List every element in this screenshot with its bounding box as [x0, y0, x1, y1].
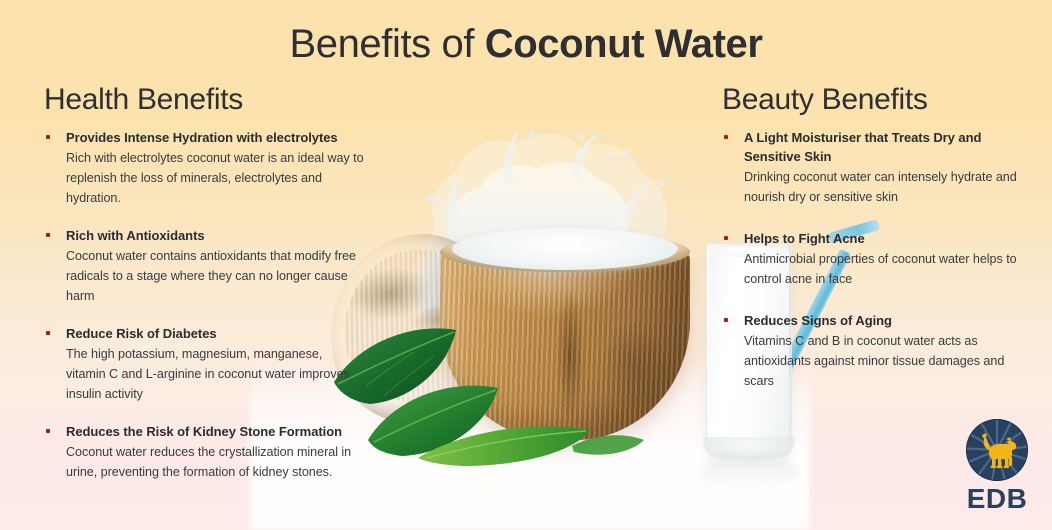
logo-wordmark: EDB — [961, 484, 1033, 514]
coconut-water-pool — [452, 228, 678, 270]
infographic-canvas: Benefits of Coconut Water Health Benefit… — [0, 0, 1052, 530]
benefit-description: Coconut water contains antioxidants that… — [66, 246, 364, 306]
list-item: Reduces Signs of Aging Vitamins C and B … — [722, 311, 1022, 391]
list-item: Rich with Antioxidants Coconut water con… — [44, 226, 364, 306]
benefit-title: Helps to Fight Acne — [744, 229, 1022, 248]
bullet-icon — [724, 135, 728, 139]
benefit-title: Reduces Signs of Aging — [744, 311, 1022, 330]
beauty-benefits-list: A Light Moisturiser that Treats Dry and … — [722, 128, 1022, 413]
water-splash-icon — [395, 125, 695, 315]
benefit-description: Rich with electrolytes coconut water is … — [66, 148, 364, 208]
list-item: Reduces the Risk of Kidney Stone Formati… — [44, 422, 364, 482]
list-item: A Light Moisturiser that Treats Dry and … — [722, 128, 1022, 207]
glass-reflection — [700, 456, 800, 490]
bullet-icon — [46, 233, 50, 237]
benefit-title: Reduce Risk of Diabetes — [66, 324, 364, 343]
benefit-description: Coconut water reduces the crystallizatio… — [66, 442, 364, 482]
benefit-title: A Light Moisturiser that Treats Dry and … — [744, 128, 1022, 166]
benefit-description: Antimicrobial properties of coconut wate… — [744, 249, 1022, 289]
green-leaves-icon — [322, 300, 652, 470]
benefit-title: Reduces the Risk of Kidney Stone Formati… — [66, 422, 364, 441]
benefit-title: Rich with Antioxidants — [66, 226, 364, 245]
bullet-icon — [46, 135, 50, 139]
list-item: Helps to Fight Acne Antimicrobial proper… — [722, 229, 1022, 289]
list-item: Reduce Risk of Diabetes The high potassi… — [44, 324, 364, 404]
bullet-icon — [724, 318, 728, 322]
coconut-shell-bowl-icon — [440, 240, 690, 440]
edb-logo[interactable]: EDB — [961, 418, 1033, 516]
benefit-title: Provides Intense Hydration with electrol… — [66, 128, 364, 147]
list-item: Provides Intense Hydration with electrol… — [44, 128, 364, 208]
benefit-description: The high potassium, magnesium, manganese… — [66, 344, 364, 404]
section-heading-beauty: Beauty Benefits — [722, 82, 928, 118]
page-title: Benefits of Coconut Water — [0, 20, 1052, 68]
coconut-shell-rim — [440, 232, 690, 272]
benefit-description: Vitamins C and B in coconut water acts a… — [744, 331, 1022, 391]
page-title-bold: Coconut Water — [485, 22, 763, 66]
page-title-light: Benefits of — [289, 22, 484, 66]
glass-base — [703, 437, 795, 459]
bullet-icon — [46, 429, 50, 433]
bullet-icon — [724, 236, 728, 240]
bullet-icon — [46, 331, 50, 335]
health-benefits-list: Provides Intense Hydration with electrol… — [44, 128, 364, 500]
sri-lanka-lion-emblem-icon — [965, 418, 1029, 482]
section-heading-health: Health Benefits — [44, 82, 243, 118]
benefit-description: Drinking coconut water can intensely hyd… — [744, 167, 1022, 207]
